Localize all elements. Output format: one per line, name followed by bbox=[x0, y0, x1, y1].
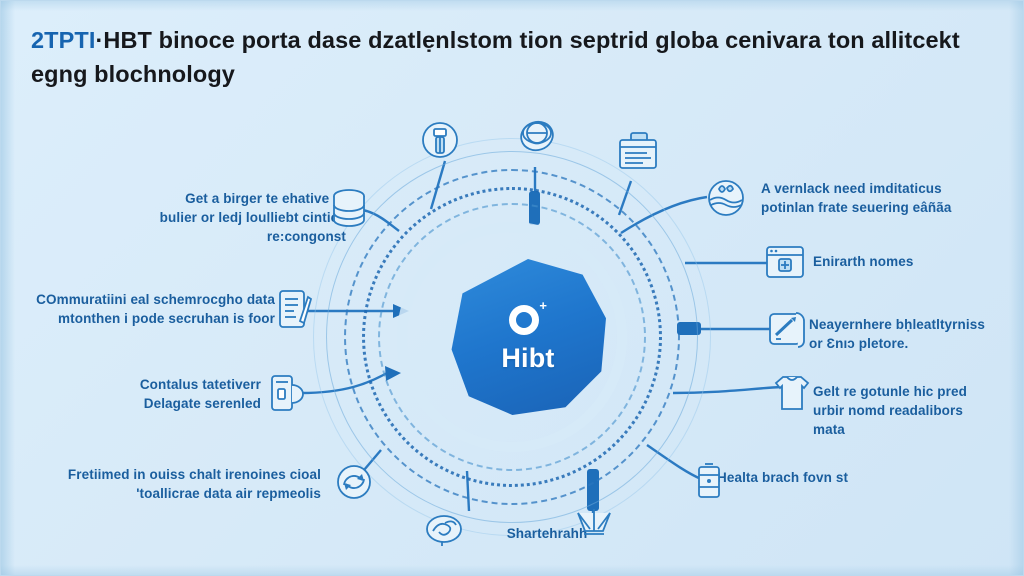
callout-left-1-line-1: Get a birger te ehative of bbox=[111, 189, 346, 208]
scribble-circle-icon[interactable] bbox=[423, 509, 465, 549]
lantern-icon[interactable] bbox=[693, 461, 725, 503]
callout-right-3-line-1: Neayernhere bḥleatltyrniss bbox=[809, 315, 1017, 334]
title-accent: 2TPTI bbox=[31, 27, 95, 53]
callout-right-1-line-2: potinlan frate seuering eâñãa bbox=[761, 198, 1011, 217]
database-icon[interactable] bbox=[329, 187, 369, 229]
hub-plus-glyph: + bbox=[539, 301, 547, 311]
callout-left-4[interactable]: Fretiimed in ouiss chalt irenoines cioal… bbox=[31, 465, 321, 503]
center-hub[interactable]: + Hibt bbox=[450, 259, 606, 415]
globe-shield-icon[interactable] bbox=[515, 113, 559, 159]
callout-left-4-line-2: 'toallicrae data air repmeolis bbox=[31, 484, 321, 503]
hub-label: Hibt bbox=[501, 343, 554, 374]
callout-left-1-line-2: bulier or ledj loulliebt cinticil bbox=[111, 208, 346, 227]
document-window-icon[interactable] bbox=[617, 131, 661, 171]
callout-right-3[interactable]: Neayernhere bḥleatltyrniss or Ɛnıɔ plet… bbox=[809, 315, 1017, 353]
device-meter-icon[interactable] bbox=[269, 373, 307, 413]
callout-right-4-line-2: urbir nomd readalibors bbox=[813, 401, 1013, 420]
globe-leaf-icon[interactable] bbox=[705, 177, 747, 219]
infographic-canvas: + Hibt 2TPTI·HBT binoce porta dase dzatl… bbox=[0, 0, 1024, 576]
title-line-2: egng blochnology bbox=[31, 57, 991, 91]
page-title: 2TPTI·HBT binoce porta dase dzatlẹnlsto… bbox=[31, 23, 991, 91]
callout-left-1[interactable]: Get a birger te ehative of bulier or led… bbox=[111, 189, 346, 246]
ring-plus-icon: + bbox=[509, 301, 547, 339]
callout-right-4-line-1: Gelt re gotunle hic pred bbox=[813, 382, 1013, 401]
callout-right-2[interactable]: Enirarth nomes bbox=[813, 252, 1013, 271]
callout-left-2[interactable]: COmmuratiini eal schemrocgho data mtonth… bbox=[7, 290, 275, 328]
crown-icon[interactable] bbox=[571, 501, 617, 543]
cycle-arrows-icon[interactable] bbox=[335, 463, 373, 501]
callout-left-1-line-3: re:congonst bbox=[111, 227, 346, 246]
callout-right-1[interactable]: A vernlack need imditaticus potinlan fra… bbox=[761, 179, 1011, 217]
title-line-1-rest: ·HBT binoce porta dase dzatlẹnlstom tio… bbox=[95, 27, 959, 53]
callout-right-1-line-1: A vernlack need imditaticus bbox=[761, 179, 1011, 198]
callout-right-5-line-1: Healta brach fovn st bbox=[717, 468, 957, 487]
callout-left-3-line-1: Contalus tatetiverr bbox=[111, 375, 261, 394]
callout-left-2-line-1: COmmuratiini eal schemrocgho data bbox=[7, 290, 275, 309]
callout-right-4[interactable]: Gelt re gotunle hic pred urbir nomd read… bbox=[813, 382, 1013, 439]
clipboard-pen-icon[interactable] bbox=[277, 287, 313, 331]
callout-right-5[interactable]: Healta brach fovn st bbox=[717, 468, 957, 487]
callout-left-2-line-2: mtonthen i pode secruhan is foor bbox=[7, 309, 275, 328]
callout-left-3-line-2: Delagate serenled bbox=[111, 394, 261, 413]
pen-note-icon[interactable] bbox=[767, 309, 811, 351]
callout-right-3-line-2: or Ɛnıɔ pletore. bbox=[809, 334, 1017, 353]
callout-left-3[interactable]: Contalus tatetiverr Delagate serenled bbox=[111, 375, 261, 413]
browser-window-icon[interactable] bbox=[765, 245, 805, 281]
callout-left-4-line-1: Fretiimed in ouiss chalt irenoines cioal bbox=[31, 465, 321, 484]
callout-right-4-line-3: mata bbox=[813, 420, 1013, 439]
title-line-1: 2TPTI·HBT binoce porta dase dzatlẹnlsto… bbox=[31, 23, 991, 57]
person-badge-icon[interactable] bbox=[419, 119, 461, 163]
shirt-icon[interactable] bbox=[771, 373, 813, 413]
callout-right-2-line-1: Enirarth nomes bbox=[813, 252, 1013, 271]
